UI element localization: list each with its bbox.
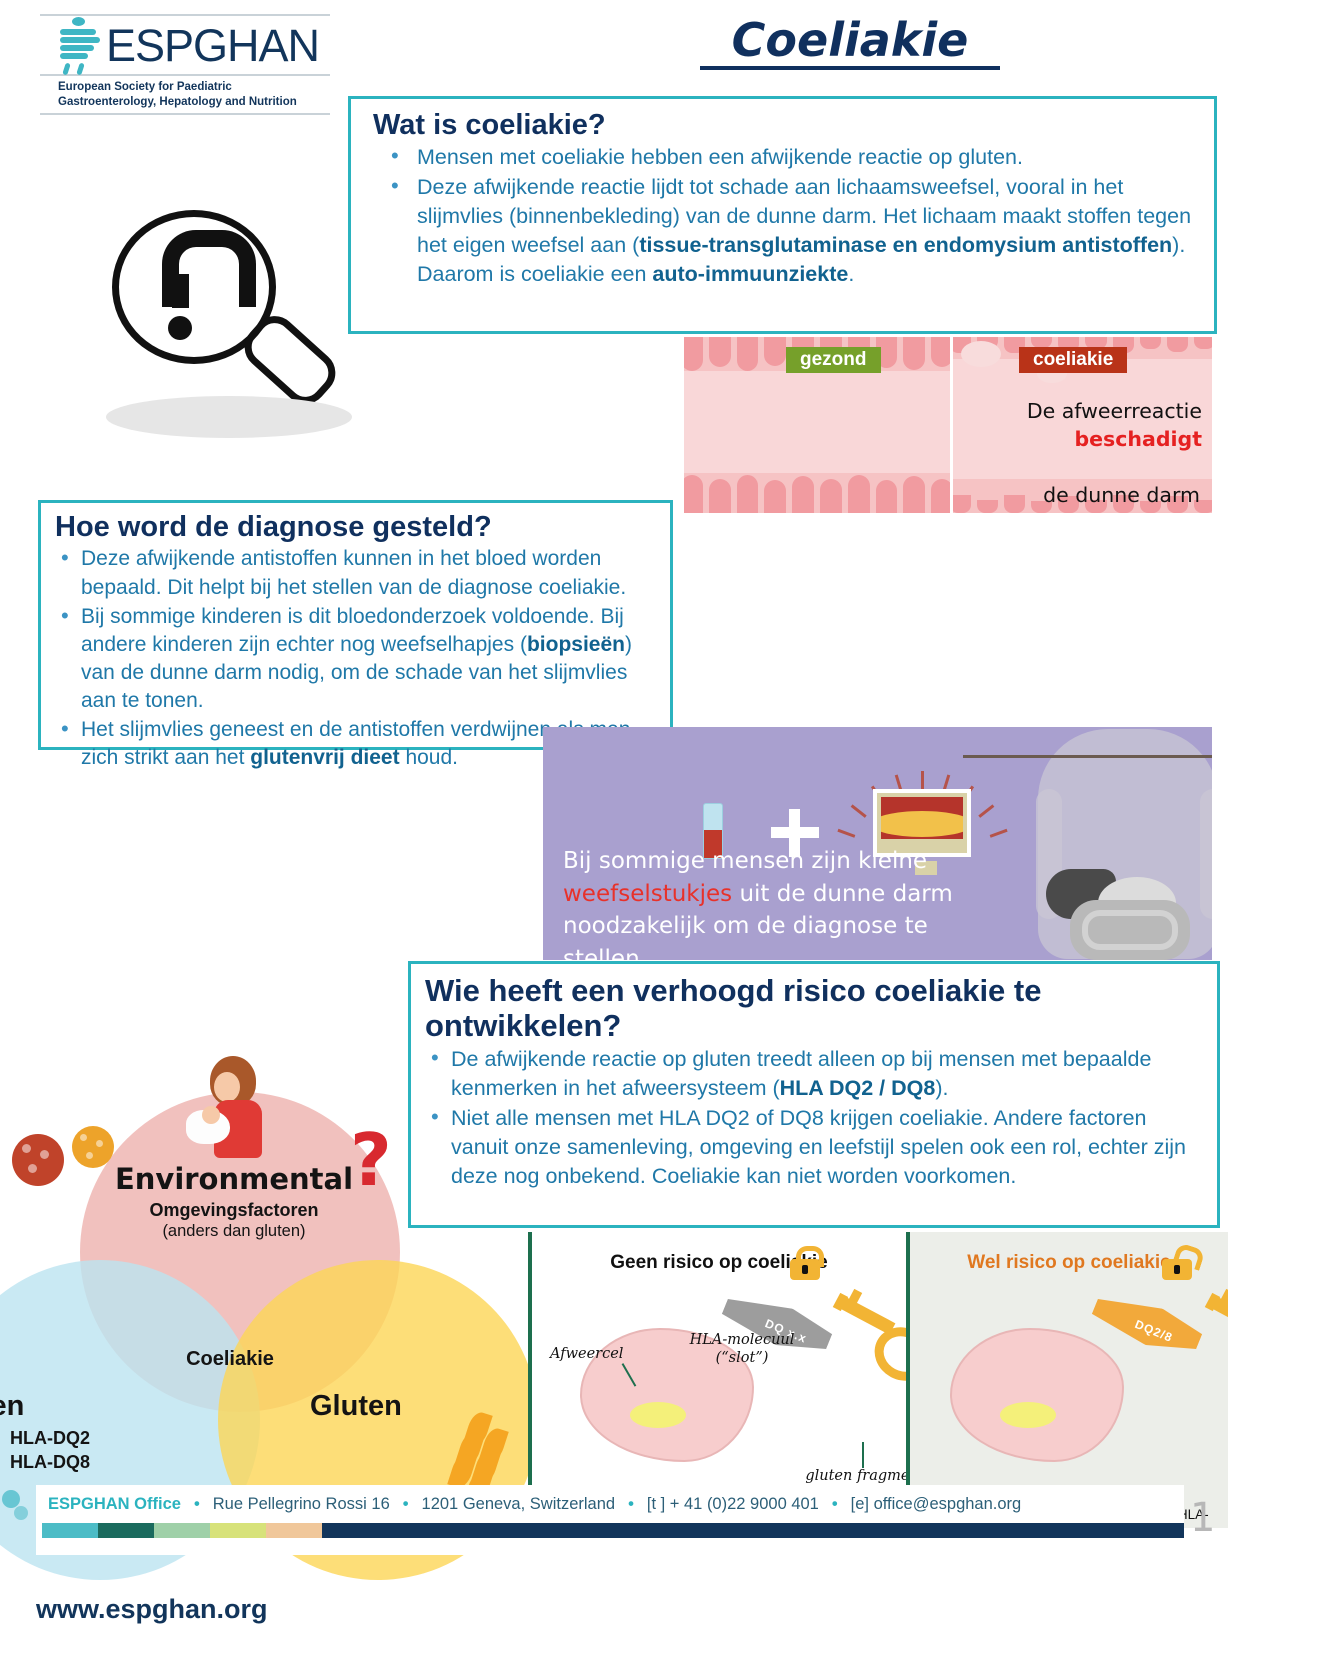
section-diagnosis-heading: Hoe word de diagnose gesteld? [55,511,658,543]
cell-nucleus [1000,1402,1056,1428]
biopsy-figure: Bij sommige mensen zijn kleine weefselst… [543,727,1212,960]
footer-website[interactable]: www.espghan.org [36,1594,268,1625]
section-risk-heading: Wie heeft een verhoogd risico coeliakie … [425,974,1203,1043]
celiac-intestine-panel: coeliakie De afweerreactie beschadigt de… [953,337,1212,513]
cell-nucleus [630,1402,686,1428]
key-lock-diagrams: Geen risico op coeliakie DQ x.x Afweerce… [528,1232,1228,1528]
panel-title-no-risk: Geen risico op coeliakie [532,1252,906,1274]
gluten-key-icon [1200,1278,1228,1356]
lock-open-icon [1162,1246,1192,1280]
intestine-coil-icon [1070,900,1190,960]
venn-label-environmental-sub: (anders dan gluten) [104,1222,364,1241]
footer-separator: • [615,1495,647,1514]
list-item: Niet alle mensen met HLA DQ2 of DQ8 krij… [425,1104,1203,1190]
venn-gene-hla-dq2: HLA-DQ2 [10,1426,90,1450]
section-what-bullet-list: Mensen met coeliakie hebben een afwijken… [373,143,1200,288]
endoscope-cable [963,755,1212,804]
gluten-key-icon [828,1278,906,1356]
status-badge-celiac: coeliakie [1019,347,1127,373]
footer-office: ESPGHAN Office [48,1495,181,1514]
section-what-is-celiac: Wat is coeliakie? Mensen met coeliakie h… [348,96,1217,334]
logo-wordmark: ESPGHAN [106,23,319,68]
page-title: Coeliakie [700,16,1000,70]
lock-closed-icon [790,1246,820,1280]
immune-cell-shape [950,1328,1124,1462]
bullet-text-rich: De afwijkende reactie op gluten treedt a… [451,1047,1151,1100]
section-diagnosis: Hoe word de diagnose gesteld? Deze afwij… [38,500,673,750]
venn-label-gene-sub: HLA-DQ2 HLA-DQ8 [10,1426,90,1475]
logo-subtitle-line2: Gastroenterology, Hepatology and Nutriti… [58,95,330,110]
venn-label-gluten: Gluten [310,1390,402,1423]
patient-arm-right [1200,789,1212,919]
footer-separator: • [181,1495,213,1514]
biopsy-caption-pre: Bij sommige mensen zijn kleine [563,848,927,874]
footer-address: Rue Pellegrino Rossi 16 [213,1495,390,1514]
immune-cell-icon [961,341,1001,367]
key-lock-panel-no-risk: Geen risico op coeliakie DQ x.x Afweerce… [528,1232,906,1528]
footer-contact-line: ESPGHAN Office • Rue Pellegrino Rossi 16… [36,1485,1184,1523]
footer-decoration [0,1480,36,1550]
page-number: 1 [1190,1495,1215,1541]
bullet-text-rich: Deze afwijkende reactie lijdt tot schade… [417,175,1191,285]
key-lock-panel-at-risk: Wel risico op coeliakie DQ2/8 HLA-kenmer… [906,1232,1228,1528]
list-item: Mensen met coeliakie hebben een afwijken… [373,143,1200,172]
venn-label-gene: Gen [0,1390,24,1423]
virus-icon [12,1134,64,1186]
footer-separator: • [819,1495,851,1514]
biopsy-caption-highlight: weefselstukjes [563,881,732,907]
villi-bottom-healthy [684,479,953,513]
venn-diagram: ? Environmental Omgevingsfactoren (ander… [0,1022,540,1512]
logo-bottom-rule [40,113,330,115]
venn-gene-hla-dq8: HLA-DQ8 [10,1450,90,1474]
footer-city: 1201 Geneva, Switzerland [422,1495,616,1514]
footer-phone: [t ] + 41 (0)22 9000 401 [647,1495,819,1514]
venn-label-environmental-nl: Omgevingsfactoren [104,1200,364,1221]
venn-label-environmental-en: Environmental [104,1162,364,1196]
intestine-caption-line2: beschadigt [1074,427,1202,451]
section-risk-bullet-list: De afwijkende reactie op gluten treedt a… [425,1045,1203,1190]
logo-mid-rule [40,74,330,76]
annotation-arrow [862,1442,864,1468]
annotation-hla-molecule: HLA-molecuul (“slot”) [672,1332,812,1367]
list-item: Deze afwijkende antistoffen kunnen in he… [55,545,658,601]
annotation-fragment-line1: gluten fragment [800,1468,906,1486]
intestine-caption-line1: De afweerreactie [1027,399,1202,423]
espghan-figure-icon [58,17,102,73]
status-badge-healthy: gezond [786,347,881,373]
annotation-hla-line1: HLA-molecuul [672,1332,812,1350]
logo-wordmark-row: ESPGHAN [40,16,330,74]
intestine-caption-line3: de dunne darm [1043,483,1200,507]
biopsy-caption: Bij sommige mensen zijn kleine weefselst… [563,845,963,960]
intestine-comparison-figure: gezond coeliakie De afweerreactie bescha… [684,337,1212,513]
espghan-logo: ESPGHAN European Society for Paediatric … [40,14,330,106]
list-item: De afwijkende reactie op gluten treedt a… [425,1045,1203,1103]
magnifier-question-icon [100,200,340,440]
footer-color-bar [42,1523,1184,1538]
annotation-hla-line2: (“slot”) [672,1350,812,1368]
footer-separator: • [390,1495,422,1514]
list-item: Deze afwijkende reactie lijdt tot schade… [373,173,1200,288]
list-item: Bij sommige kinderen is dit bloedonderzo… [55,603,658,716]
breastfeeding-mother-icon [180,1054,290,1164]
venn-label-center: Coeliakie [120,1348,340,1371]
logo-subtitle: European Society for Paediatric Gastroen… [58,80,330,109]
section-what-heading: Wat is coeliakie? [373,109,1200,141]
healthy-intestine-panel: gezond [684,337,953,513]
footer-email[interactable]: [e] office@espghan.org [851,1495,1022,1514]
annotation-immune-cell: Afweercel [550,1346,623,1364]
bullet-text-rich: Bij sommige kinderen is dit bloedonderzo… [81,605,632,712]
footer: ESPGHAN Office • Rue Pellegrino Rossi 16… [36,1485,1184,1555]
logo-subtitle-line1: European Society for Paediatric [58,80,330,95]
